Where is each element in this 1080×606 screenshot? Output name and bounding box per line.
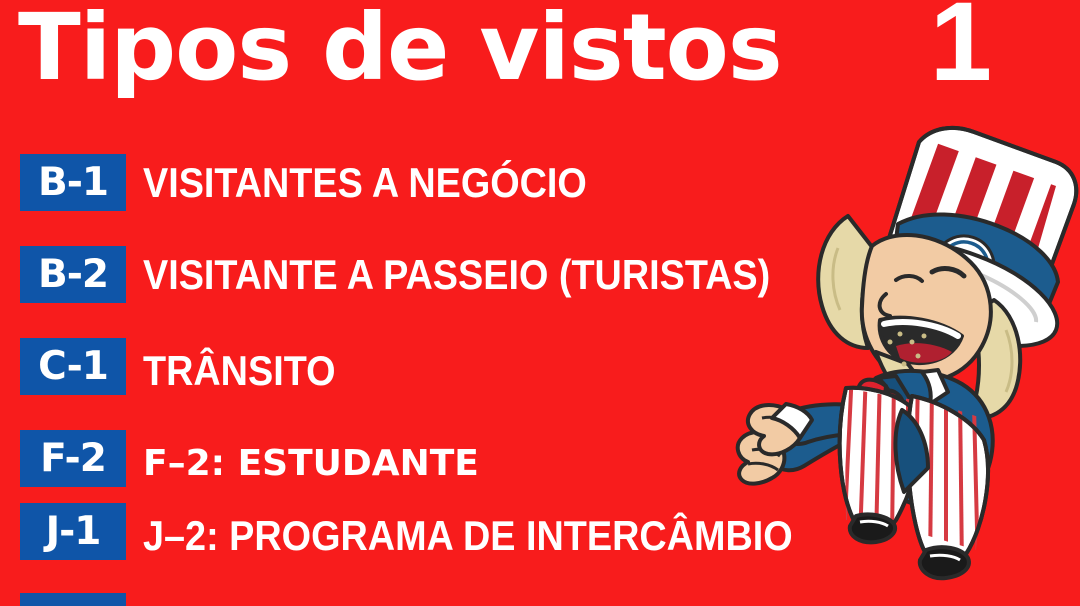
visa-code-badge: B-2 bbox=[20, 246, 126, 303]
visa-row: F-2 F–2: ESTUDANTE bbox=[0, 427, 1080, 489]
visa-code-label: B-2 bbox=[38, 255, 108, 294]
visa-code-badge: J-1 bbox=[20, 503, 126, 560]
visa-row: J-1 J–2: PROGRAMA DE INTERCÂMBIO bbox=[0, 500, 1080, 562]
visa-description: VISITANTE A PASSEIO (TURISTAS) bbox=[143, 251, 770, 299]
visa-description: J–2: PROGRAMA DE INTERCÂMBIO bbox=[143, 512, 793, 560]
slide-canvas: Tipos de vistos 1 B-1 VISITANTES A NEGÓC… bbox=[0, 0, 1080, 606]
visa-code-label: B-1 bbox=[38, 163, 108, 202]
visa-code-label: C-1 bbox=[38, 347, 108, 386]
visa-code-badge: F-2 bbox=[20, 430, 126, 487]
visa-description: F–2: ESTUDANTE bbox=[143, 443, 479, 484]
visa-description: VISITANTES A NEGÓCIO bbox=[143, 159, 587, 207]
visa-code-badge: B-1 bbox=[20, 154, 126, 211]
visa-code-label: F-2 bbox=[40, 439, 106, 478]
visa-row: B-2 VISITANTE A PASSEIO (TURISTAS) bbox=[0, 243, 1080, 305]
visa-row: B-1 VISITANTES A NEGÓCIO bbox=[0, 151, 1080, 213]
page-title: Tipos de vistos bbox=[18, 0, 782, 100]
slide-number-badge: 1 bbox=[930, 0, 992, 98]
visa-code-badge-partial bbox=[20, 593, 126, 606]
visa-code-label: J-1 bbox=[46, 512, 101, 551]
visa-row: C-1 TRÂNSITO bbox=[0, 335, 1080, 397]
visa-description: TRÂNSITO bbox=[143, 347, 336, 395]
visa-code-badge: C-1 bbox=[20, 338, 126, 395]
